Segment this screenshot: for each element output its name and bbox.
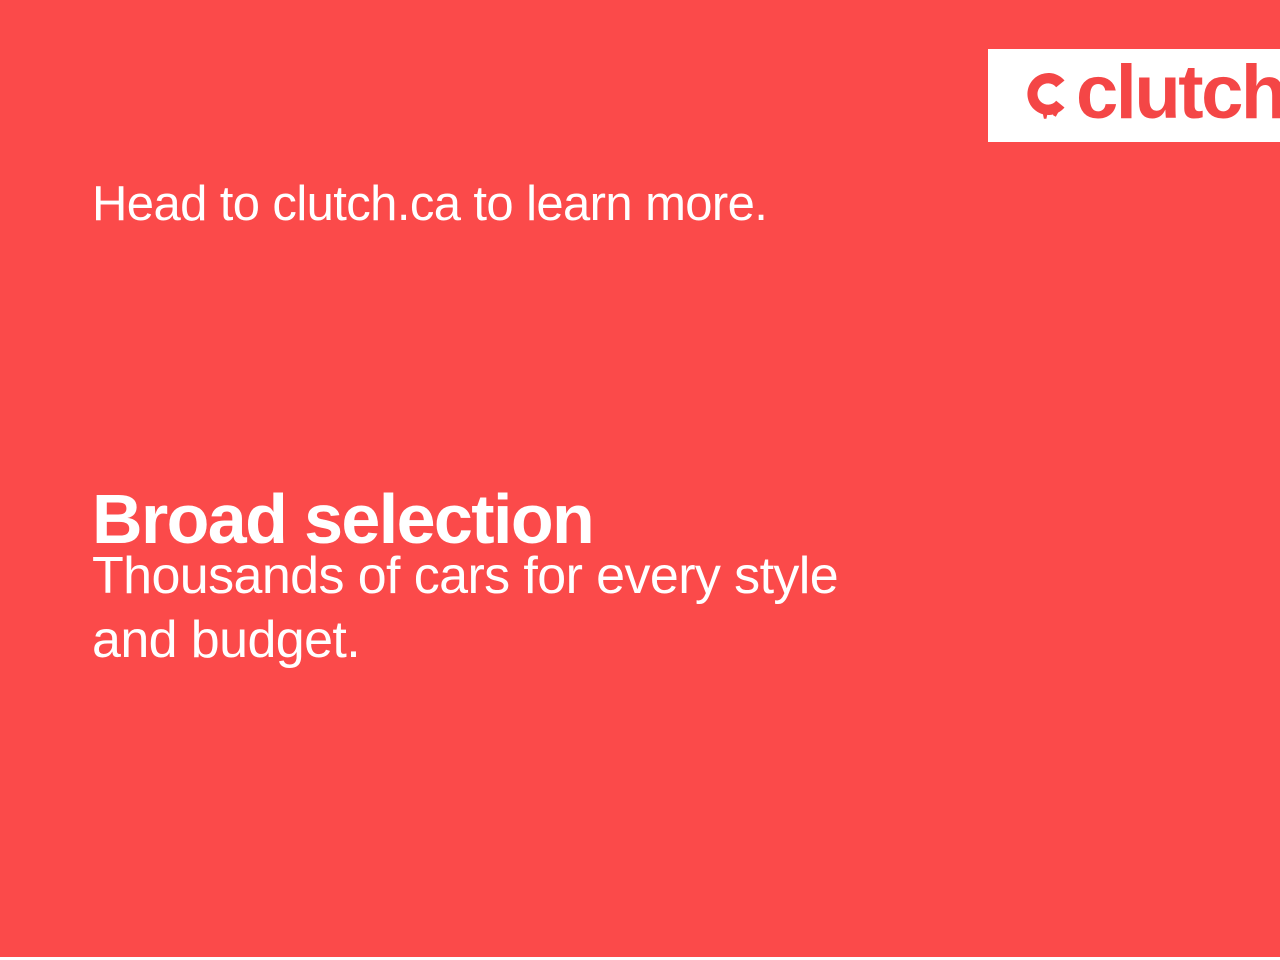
kicker-text: Head to clutch.ca to learn more. [92,178,767,232]
subcopy-block: Thousands of cars for every style and bu… [92,544,838,673]
slide-canvas: clutch Head to clutch.ca to learn more. … [0,0,1280,960]
brand-wordmark: clutch [1076,55,1280,131]
subcopy-line-2: and budget. [92,608,838,672]
brand-logo-plate[interactable]: clutch [988,49,1280,142]
clutch-c-wheel-icon [1020,67,1074,125]
brand-logo-lockup[interactable]: clutch [1020,65,1280,127]
subcopy-line-1: Thousands of cars for every style [92,544,838,608]
